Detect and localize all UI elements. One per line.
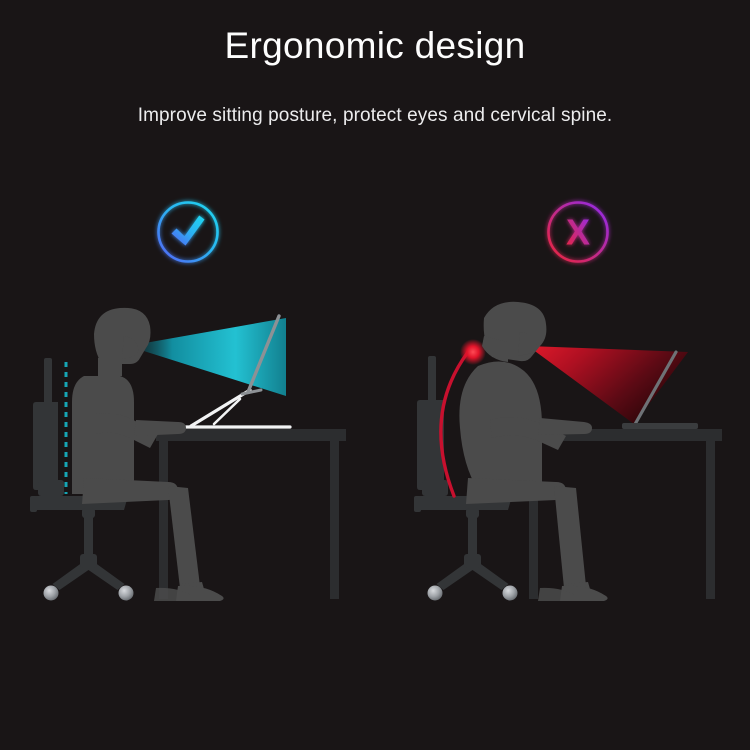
page-subtitle: Improve sitting posture, protect eyes an… (0, 105, 750, 127)
incorrect-posture-illustration (398, 296, 738, 626)
neck-pain-indicator (460, 339, 486, 365)
laptop-base-bad (622, 423, 698, 429)
chair-wheel (428, 586, 443, 601)
cross-x-icon: X (566, 212, 590, 253)
cross-x-badge: X (544, 198, 612, 266)
chair-wheel (44, 586, 59, 601)
desk-bad (526, 429, 722, 599)
laptop-stand (186, 390, 290, 427)
product-feature-slide: Ergonomic design Improve sitting posture… (0, 0, 750, 750)
chair-wheel (503, 586, 518, 601)
gaze-cone-bad (528, 346, 688, 424)
check-mark-badge (154, 198, 222, 266)
correct-posture-illustration (28, 296, 368, 626)
page-title: Ergonomic design (0, 26, 750, 67)
check-mark-icon (172, 216, 205, 246)
chair-wheel (119, 586, 134, 601)
laptop-base-good (242, 390, 261, 394)
